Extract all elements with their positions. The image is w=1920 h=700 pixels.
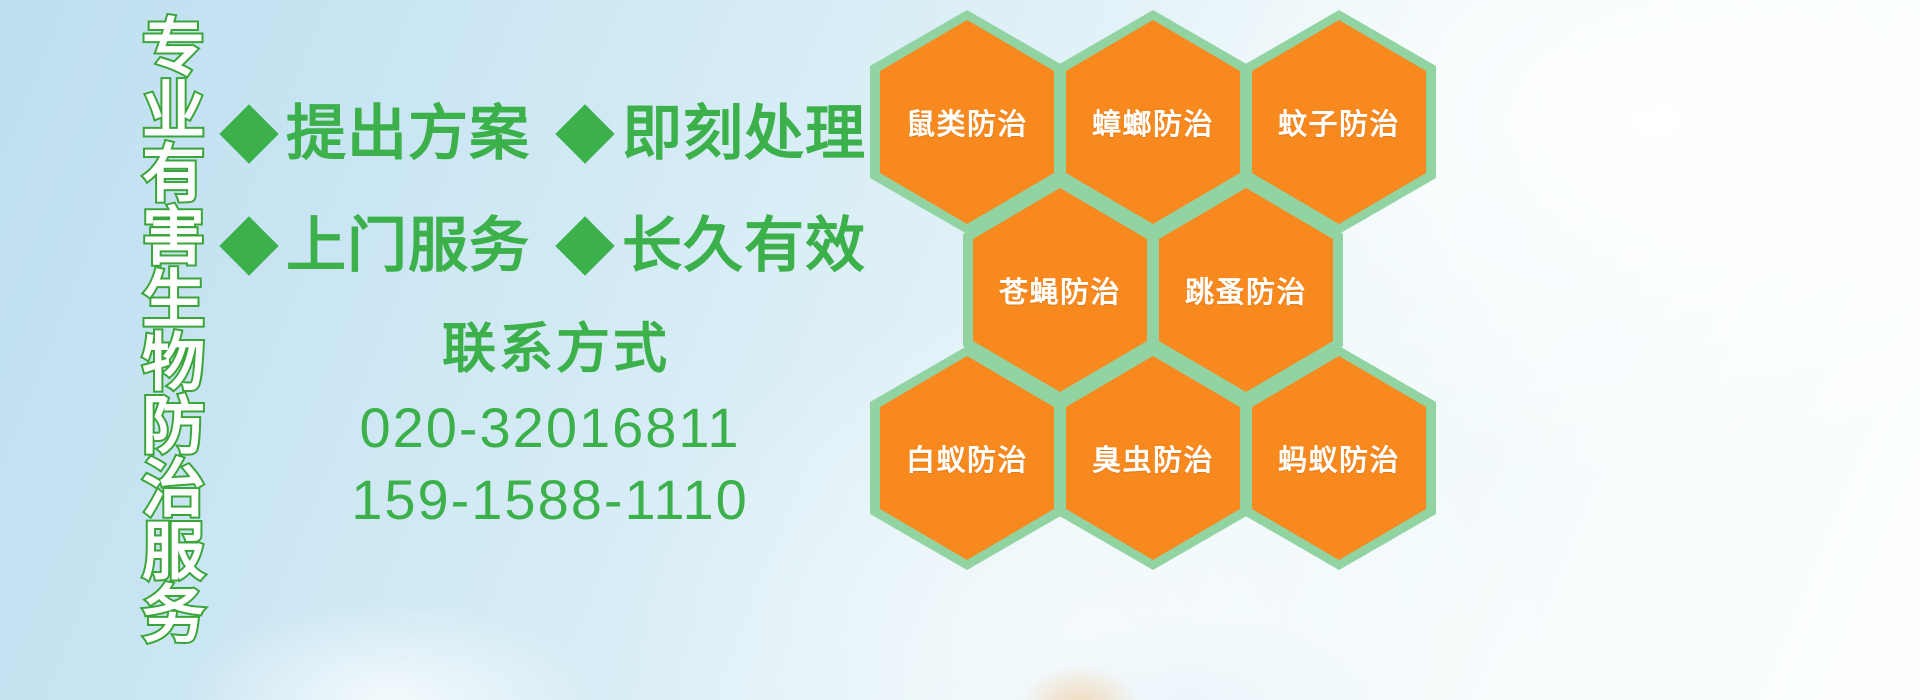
hex-label: 跳蚤防治: [1185, 269, 1307, 311]
hex-label: 蟑螂防治: [1092, 101, 1214, 143]
feature-row: 上门服务 长久有效: [228, 190, 858, 302]
diamond-icon: [555, 216, 614, 275]
contact-title: 联系方式: [312, 318, 800, 380]
hex-label: 蚊子防治: [1278, 101, 1400, 143]
feature-item-immediate-handling: 即刻处理: [564, 104, 866, 164]
feature-label: 即刻处理: [622, 104, 866, 164]
service-honeycomb: 鼠类防治 蟑螂防治 蚊子防治 苍蝇防治 跳蚤防治 白蚁防治: [860, 0, 1460, 560]
feature-item-long-lasting-effect: 长久有效: [564, 216, 866, 276]
hex-cell-termite-control[interactable]: 白蚁防治: [870, 346, 1064, 570]
hex-label: 臭虫防治: [1092, 437, 1214, 479]
hex-cell-bedbug-control[interactable]: 臭虫防治: [1056, 346, 1250, 570]
background-blob-center: [980, 610, 1400, 700]
contact-phone-landline[interactable]: 020-32016811: [300, 392, 800, 464]
vertical-title: 专业有害生物防治服务: [108, 14, 200, 574]
feature-label: 提出方案: [286, 104, 530, 164]
diamond-icon: [555, 104, 614, 163]
feature-label: 上门服务: [286, 216, 530, 276]
diamond-icon: [219, 104, 278, 163]
hex-label: 白蚁防治: [906, 437, 1028, 479]
contact-phone-mobile[interactable]: 159-1588-1110: [300, 464, 800, 536]
feature-label: 长久有效: [622, 216, 866, 276]
background-blob-left: [180, 600, 600, 700]
contact-block: 联系方式 020-32016811 159-1588-1110: [300, 318, 800, 535]
hex-label: 蚂蚁防治: [1278, 437, 1400, 479]
feature-row: 提出方案 即刻处理: [228, 78, 858, 190]
feature-list: 提出方案 即刻处理 上门服务 长久有效: [228, 78, 858, 302]
hex-label: 鼠类防治: [906, 101, 1028, 143]
hex-label: 苍蝇防治: [999, 269, 1121, 311]
feature-item-door-to-door-service: 上门服务: [228, 216, 530, 276]
diamond-icon: [219, 216, 278, 275]
hex-cell-ant-control[interactable]: 蚂蚁防治: [1242, 346, 1436, 570]
background-blob-orange: [1020, 665, 1140, 700]
feature-item-propose-plan: 提出方案: [228, 104, 530, 164]
pest-control-banner: 专业有害生物防治服务 提出方案 即刻处理 上门服务 长久有效 联系方式: [0, 0, 1920, 700]
